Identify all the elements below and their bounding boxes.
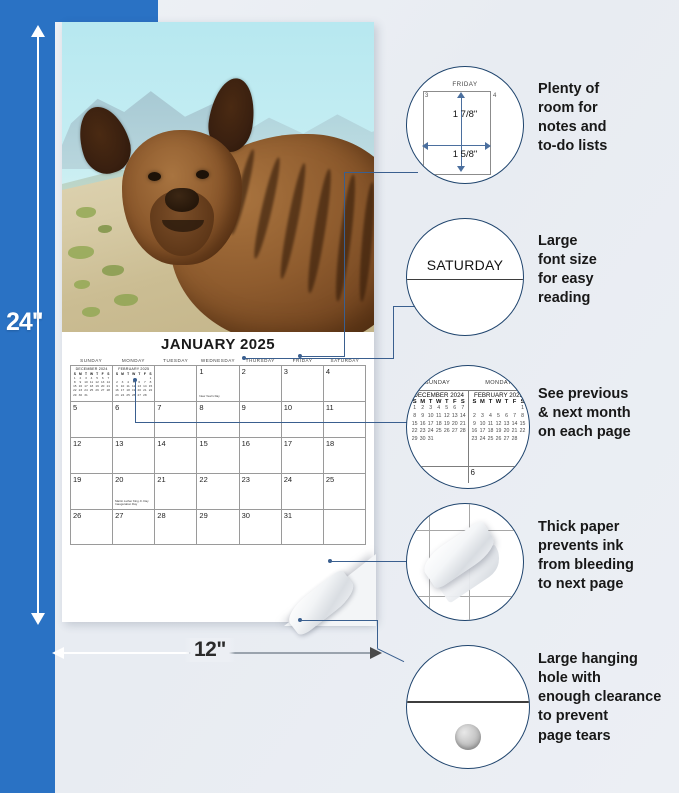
blue-bottom-panel — [0, 620, 55, 793]
calendar-day-number: 22 — [199, 475, 207, 484]
calendar-day-number: 27 — [115, 511, 123, 520]
callout-width-measure: 1 5/8" — [407, 149, 523, 160]
hyena-eye-left — [148, 172, 161, 181]
horizontal-measure-line — [427, 145, 487, 146]
calendar-day-cell[interactable]: 28 — [155, 509, 197, 545]
calendar-day-cell[interactable]: 17 — [282, 437, 324, 473]
calendar-day-cell[interactable]: 23 — [240, 473, 282, 509]
blue-top-strip — [0, 0, 158, 22]
callout-gridline — [407, 596, 523, 597]
callout-prev-month-name: DECEMBER 2024 — [411, 392, 467, 399]
callout-height-measure: 1 7/8" — [407, 109, 523, 120]
calendar-day-cell[interactable] — [324, 509, 366, 545]
calendar-day-header: TUESDAY — [155, 358, 197, 365]
calendar-event-label: Martin Luther King Jr. Day Inauguration … — [115, 500, 152, 507]
calendar-day-cell[interactable]: 12 — [71, 437, 113, 473]
callout-hanging-hole-circle — [406, 645, 530, 769]
arrow-down-icon — [31, 613, 45, 625]
calendar-day-header: MONDAY — [112, 358, 154, 365]
calendar-day-number: 13 — [115, 439, 123, 448]
arrow-left-icon — [52, 647, 64, 659]
callout-right-day-header: MONDAY — [468, 380, 529, 386]
calendar-day-number: 26 — [73, 511, 81, 520]
calendar-day-cell[interactable]: 31 — [282, 509, 324, 545]
calendar-day-header: SUNDAY — [70, 358, 112, 365]
calendar-day-number: 20 — [115, 475, 123, 484]
calendar-week-row: 262728293031 — [70, 509, 366, 545]
calendar-day-number: 16 — [242, 439, 250, 448]
calendar-day-cell[interactable]: 19 — [71, 473, 113, 509]
calendar-day-number: 31 — [284, 511, 292, 520]
calendar-week-row: 1920Martin Luther King Jr. Day Inaugurat… — [70, 473, 366, 509]
mini-month: DECEMBER 2024SMTWTFS12345678910111213141… — [72, 367, 111, 397]
callout-rule-line — [407, 701, 529, 703]
callout-sample-day: SATURDAY — [407, 257, 523, 273]
calendar-day-cell[interactable]: 27 — [113, 509, 155, 545]
calendar-day-cell[interactable]: 21 — [155, 473, 197, 509]
calendar-day-number: 18 — [326, 439, 334, 448]
calendar-day-cell[interactable]: 13 — [113, 437, 155, 473]
calendar-day-number: 1 — [199, 367, 203, 376]
callout-next-month: FEBRUARY 2025 SMTWTFS 123456789101112131… — [470, 392, 526, 444]
callout-grid-bottom-line — [407, 466, 529, 467]
callout-cell-size-circle: FRIDAY 3 4 1 7/8" 1 5/8" — [406, 66, 524, 184]
connector-font-size — [244, 290, 424, 370]
width-label: 12" — [185, 638, 235, 662]
height-label: 24" — [6, 308, 43, 337]
calendar-day-number: 30 — [242, 511, 250, 520]
callout-prev-month-grid: SMTWTFS 12345678910111213141516171819202… — [411, 399, 467, 444]
calendar-day-cell[interactable]: 26 — [71, 509, 113, 545]
callout-cell-size-text: Plenty of room for notes and to-do lists — [538, 80, 678, 157]
callout-right-day: 4 — [493, 93, 496, 99]
calendar-sheet: JANUARY 2025 SUNDAYMONDAYTUESDAYWEDNESDA… — [62, 332, 374, 622]
calendar-day-cell[interactable]: 16 — [240, 437, 282, 473]
calendar-day-number: 28 — [157, 511, 165, 520]
calendar-day-cell[interactable]: 29 — [197, 509, 239, 545]
callout-next-month-name: FEBRUARY 2025 — [470, 392, 526, 399]
callout-grid-divider — [468, 390, 469, 483]
hyena-eye-right — [196, 170, 209, 179]
callout-left-day: 3 — [425, 93, 428, 99]
calendar-day-cell[interactable]: 30 — [240, 509, 282, 545]
calendar-day-number: 29 — [199, 511, 207, 520]
infographic-stage: 24" 12" — [0, 0, 679, 793]
calendar-day-number: 6 — [115, 403, 119, 412]
calendar-day-cell[interactable]: 24 — [282, 473, 324, 509]
callout-rule-line — [407, 279, 523, 280]
calendar-day-number: 23 — [242, 475, 250, 484]
callout-day-header: FRIDAY — [407, 81, 523, 88]
callout-prev-month: DECEMBER 2024 SMTWTFS 123456789101112131… — [411, 392, 467, 444]
hyena-nose — [165, 188, 199, 212]
callout-thick-paper-text: Thick paper prevents ink from bleeding t… — [538, 518, 679, 595]
calendar-day-number: 25 — [326, 475, 334, 484]
calendar-day-cell[interactable]: 25 — [324, 473, 366, 509]
calendar-day-cell[interactable]: DECEMBER 2024SMTWTFS12345678910111213141… — [71, 365, 113, 401]
measure-line-blue — [64, 652, 189, 654]
callout-cell-box — [423, 91, 491, 175]
calendar-day-number: 12 — [73, 439, 81, 448]
calendar-day-header: WEDNESDAY — [197, 358, 239, 365]
calendar-day-cell[interactable]: 5 — [71, 401, 113, 437]
calendar-day-number: 21 — [157, 475, 165, 484]
calendar-day-number: 14 — [157, 439, 165, 448]
calendar-week-row: 12131415161718 — [70, 437, 366, 473]
arrow-down-icon — [457, 166, 465, 172]
calendar-day-number: 19 — [73, 475, 81, 484]
calendar-day-cell[interactable]: 14 — [155, 437, 197, 473]
connector-mini-months — [135, 380, 413, 438]
calendar-day-cell[interactable]: 18 — [324, 437, 366, 473]
mini-month-title: FEBRUARY 2025 — [114, 367, 153, 371]
calendar-day-number: 24 — [284, 475, 292, 484]
callout-corner-day: 6 — [470, 468, 474, 477]
callout-font-size-text: Large font size for easy reading — [538, 232, 678, 309]
callout-thick-paper-circle — [406, 503, 524, 621]
callout-next-month-grid: SMTWTFS 12345678910111213141516171819202… — [470, 399, 526, 444]
calendar-day-cell[interactable]: 22 — [197, 473, 239, 509]
callout-font-size-circle: SATURDAY — [406, 218, 524, 336]
calendar-day-number: 5 — [73, 403, 77, 412]
callout-mini-months-text: See previous & next month on each page — [538, 385, 679, 442]
mini-month-title: DECEMBER 2024 — [72, 367, 111, 371]
calendar-day-number: 17 — [284, 439, 292, 448]
hanging-hole-icon — [455, 724, 481, 750]
callout-left-day-header: SUNDAY — [407, 380, 468, 386]
callout-mini-months-circle: SUNDAY MONDAY DECEMBER 2024 SMTWTFS 1234… — [406, 365, 530, 489]
callout-hanging-hole-text: Large hanging hole with enough clearance… — [538, 650, 679, 746]
calendar-day-number: 15 — [199, 439, 207, 448]
calendar-day-cell[interactable]: 20Martin Luther King Jr. Day Inauguratio… — [113, 473, 155, 509]
calendar-day-cell[interactable]: 15 — [197, 437, 239, 473]
